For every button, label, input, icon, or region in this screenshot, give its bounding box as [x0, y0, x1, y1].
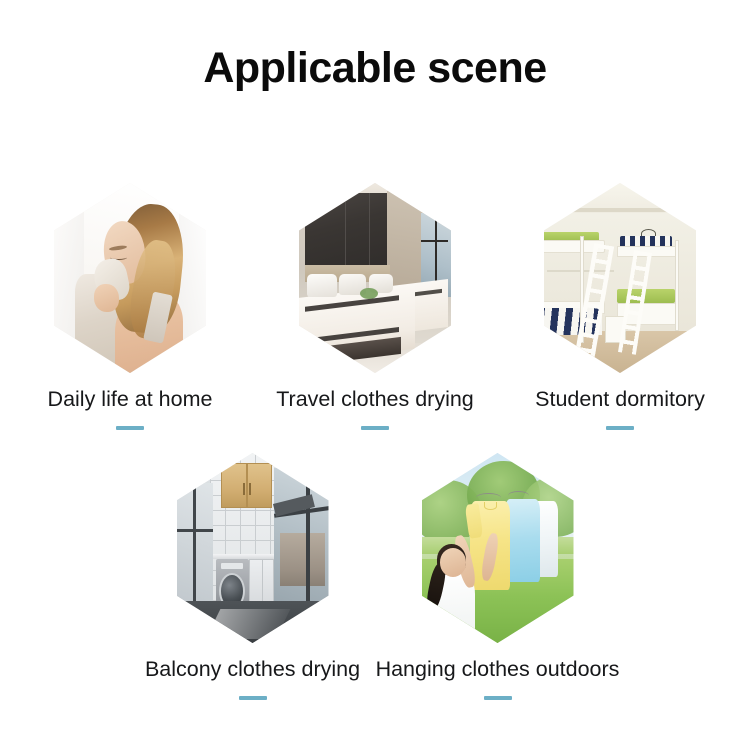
scene-label-daily-life-at-home: Daily life at home	[48, 387, 213, 413]
illustration-balcony-laundry	[177, 453, 329, 643]
scene-image-balcony-clothes-drying	[177, 453, 329, 643]
illustration-dorm-bunk-beds	[544, 183, 696, 373]
scene-image-student-dormitory	[544, 183, 696, 373]
applicable-scene-page: Applicable scene	[0, 0, 750, 750]
scene-card-travel-clothes-drying[interactable]: Travel clothes drying	[253, 183, 498, 430]
scene-card-student-dormitory[interactable]: Student dormitory	[498, 183, 743, 430]
page-title: Applicable scene	[0, 46, 750, 91]
window-right-frame-vertical	[306, 468, 310, 601]
right-bunk-post	[675, 240, 679, 331]
sunlight-reflection	[206, 609, 291, 639]
scene-row-2: Balcony clothes drying	[0, 453, 750, 700]
scene-image-hanging-clothes-outdoors	[422, 453, 574, 643]
hand	[94, 284, 120, 313]
scene-image-travel-clothes-drying	[299, 183, 451, 373]
illustration-woman-with-laundry	[54, 183, 206, 373]
head	[440, 548, 466, 577]
scene-underline-accent	[606, 426, 634, 430]
scene-underline-accent	[116, 426, 144, 430]
headboard-seam-2	[369, 193, 371, 275]
scene-label-travel-clothes-drying: Travel clothes drying	[276, 387, 474, 413]
cabinet-seam	[246, 463, 248, 509]
scene-image-daily-life-at-home	[54, 183, 206, 373]
window-left-frame-vertical	[193, 483, 196, 601]
scene-card-hanging-clothes-outdoors[interactable]: Hanging clothes outdoors	[375, 453, 620, 700]
scene-card-balcony-clothes-drying[interactable]: Balcony clothes drying	[130, 453, 375, 700]
window-mullion-horizontal	[421, 240, 448, 242]
cabinet-handle-left	[243, 483, 245, 494]
illustration-hanging-clothes-outdoors	[422, 453, 574, 643]
scene-row-1: Daily life at home	[0, 183, 750, 430]
scene-label-balcony-clothes-drying: Balcony clothes drying	[145, 657, 360, 683]
ceiling-cove	[556, 208, 684, 213]
washing-machine-panel	[221, 563, 244, 569]
city-skyline	[280, 533, 326, 586]
pillow-1	[307, 274, 337, 297]
scene-underline-accent	[239, 696, 267, 700]
scene-label-student-dormitory: Student dormitory	[535, 387, 705, 413]
dark-headboard-wall	[305, 193, 390, 275]
scene-card-daily-life-at-home[interactable]: Daily life at home	[8, 183, 253, 430]
side-wall	[387, 191, 423, 286]
blue-shirt	[505, 499, 540, 583]
scene-underline-accent	[361, 426, 389, 430]
scene-label-hanging-clothes-outdoors: Hanging clothes outdoors	[376, 657, 620, 683]
headboard-seam-1	[345, 193, 347, 275]
cabinet-handle-right	[249, 483, 251, 494]
scene-underline-accent	[484, 696, 512, 700]
illustration-hotel-twin-beds	[299, 183, 451, 373]
